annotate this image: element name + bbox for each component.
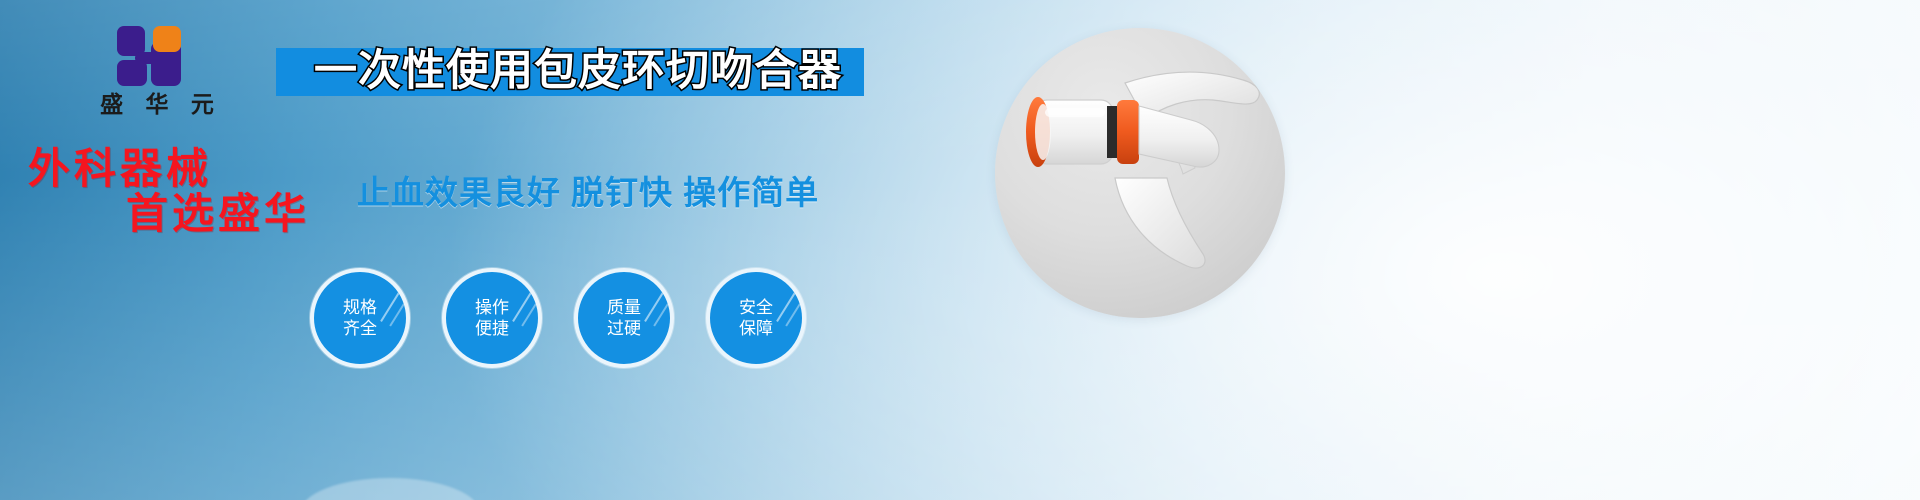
badge-slash-icon <box>776 292 796 322</box>
calligraphy-slogan: 外科器械 首选盛华 <box>22 148 352 236</box>
company-logo[interactable]: 盛 华 元 <box>72 26 242 117</box>
feature-badge-2-line-1: 操作 <box>475 297 509 318</box>
calligraphy-line-1: 外科器械 <box>22 148 352 191</box>
product-lower-arm <box>1115 178 1205 268</box>
product-slogan: 止血效果良好 脱钉快 操作简单 <box>338 166 838 214</box>
logo-square-orange <box>153 26 181 52</box>
feature-badge-2-line-2: 便捷 <box>475 318 509 339</box>
feature-badge-2[interactable]: 操作 便捷 <box>442 268 542 368</box>
feature-badge-3[interactable]: 质量 过硬 <box>574 268 674 368</box>
product-dark-band <box>1107 106 1117 158</box>
badge-slash-icon <box>644 292 664 322</box>
badge-slash-icon <box>521 303 536 326</box>
badge-slash-icon <box>380 292 400 322</box>
logo-mark-icon <box>111 26 203 88</box>
decorative-arc <box>300 478 480 500</box>
product-illustration <box>995 28 1285 318</box>
product-nose-cone <box>1139 106 1219 167</box>
feature-badge-4-line-1: 安全 <box>739 297 773 318</box>
feature-badge-1-line-2: 齐全 <box>343 318 377 339</box>
calligraphy-line-2: 首选盛华 <box>22 193 352 236</box>
feature-badge-3-line-2: 过硬 <box>607 318 641 339</box>
product-highlight <box>1045 108 1105 117</box>
product-orange-collar <box>1117 100 1139 164</box>
badge-slash-icon <box>653 303 668 326</box>
feature-badge-4-line-2: 保障 <box>739 318 773 339</box>
feature-badge-3-line-1: 质量 <box>607 297 641 318</box>
feature-badge-list: 规格 齐全 操作 便捷 质量 过硬 安全 保障 <box>310 268 806 368</box>
promo-banner: 盛 华 元 外科器械 首选盛华 一次性使用包皮环切吻合器 止血效果良好 脱钉快 … <box>0 0 1920 500</box>
badge-slash-icon <box>512 292 532 322</box>
product-photo[interactable] <box>995 28 1285 318</box>
logo-square-bottom-left <box>117 60 147 86</box>
feature-badge-4[interactable]: 安全 保障 <box>706 268 806 368</box>
badge-slash-icon <box>785 303 800 326</box>
page-title: 一次性使用包皮环切吻合器 <box>278 44 878 99</box>
badge-slash-icon <box>389 303 404 326</box>
feature-badge-1-line-1: 规格 <box>343 297 377 318</box>
company-name: 盛 华 元 <box>72 92 242 117</box>
feature-badge-1[interactable]: 规格 齐全 <box>310 268 410 368</box>
